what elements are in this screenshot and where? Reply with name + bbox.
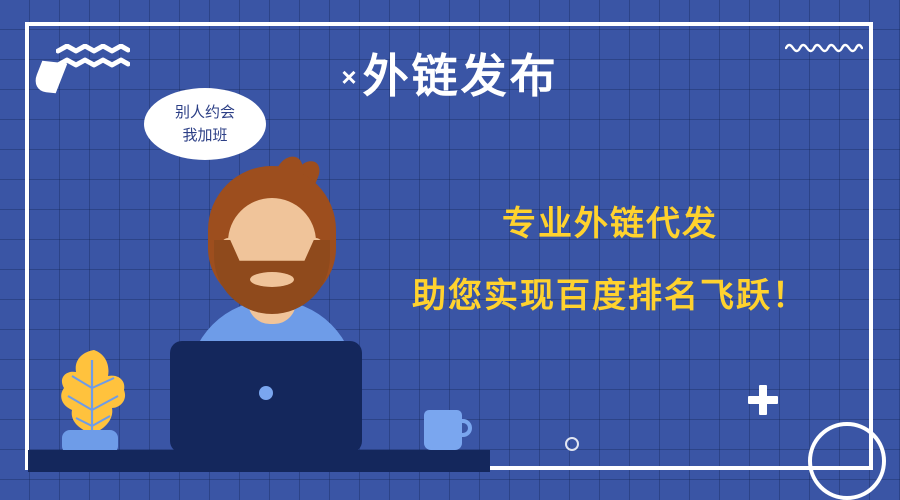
laptop-logo-icon — [259, 386, 273, 400]
speech-bubble-line-1: 别人约会 — [144, 101, 266, 124]
person-mouth — [250, 272, 294, 287]
desk-surface — [28, 450, 490, 472]
coffee-mug — [424, 410, 462, 450]
speech-bubble-text: 别人约会 我加班 — [144, 101, 266, 147]
plant-leaf-icon — [58, 348, 130, 440]
speech-bubble: 别人约会 我加班 — [144, 88, 266, 160]
promo-banner: ×外链发布 专业外链代发 助您实现百度排名飞跃！ 别人约会 我加班 — [0, 0, 900, 500]
speech-bubble-line-2: 我加班 — [144, 124, 266, 147]
